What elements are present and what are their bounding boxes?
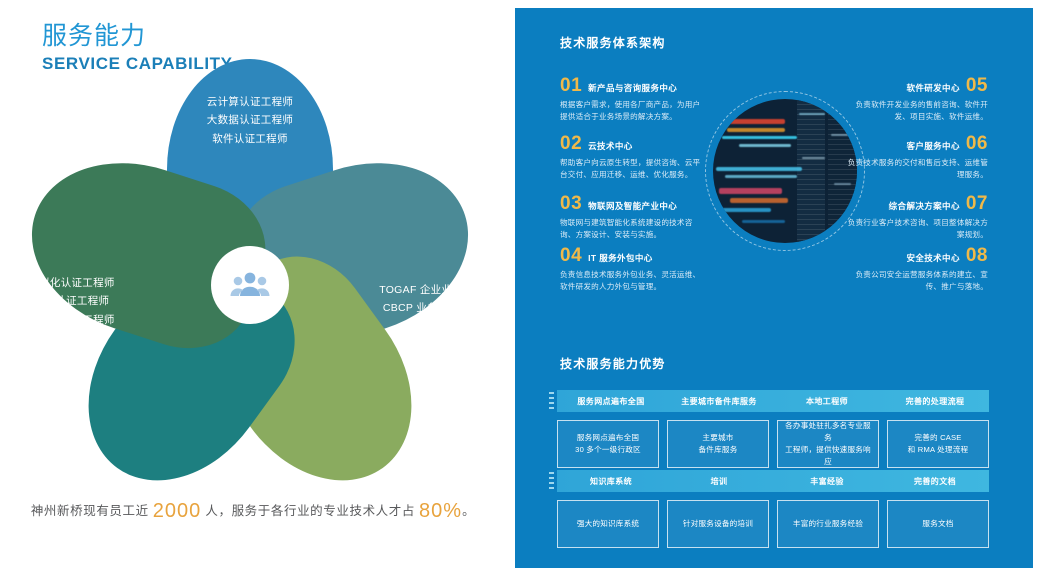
service-item-07-name: 综合解决方案中心	[889, 200, 960, 212]
data-center-photo-image	[713, 99, 857, 243]
service-item-08: 安全技术中心 08 负责公司安全运营服务体系的建立、宣传、推广与落地。	[840, 246, 988, 294]
service-item-07-number: 07	[966, 194, 988, 213]
advantage-2-card-2[interactable]: 丰富的行业服务经验	[777, 500, 879, 548]
advantage-2-header-2: 丰富经验	[773, 470, 881, 492]
service-item-01-number: 01	[560, 76, 582, 95]
footnote-employee-count: 2000	[153, 500, 202, 522]
advantage-1-card-3[interactable]: 完善的 CASE和 RMA 处理流程	[887, 420, 989, 468]
page-title-cn: 服务能力	[42, 22, 233, 51]
service-item-05-name: 软件研发中心	[906, 82, 959, 94]
advantage-table-1: 服务网点遍布全国 主要城市备件库服务 本地工程师 完善的处理流程 服务网点遍布全…	[557, 390, 989, 468]
service-item-06-desc: 负责技术服务的交付和售后支持、运维管理服务。	[840, 157, 988, 182]
service-item-01: 01 新产品与咨询服务中心 根据客户需求，使用各厂商产品，为用户提供适合于业务场…	[560, 76, 708, 124]
advantage-1-header-2: 本地工程师	[773, 390, 881, 412]
advantage-2-card-1[interactable]: 针对服务设备的培训	[667, 500, 769, 548]
advantage-1-header-1: 主要城市备件库服务	[665, 390, 773, 412]
service-item-05-desc: 负责软件开发业务的售前咨询、软件开发、项目实施、软件运维。	[840, 99, 988, 124]
service-item-01-desc: 根据客户需求，使用各厂商产品，为用户提供适合于业务场景的解决方案。	[560, 99, 708, 124]
service-item-02: 02 云技术中心 帮助客户向云原生转型，提供咨询、云平台交付、应用迁移、运维、优…	[560, 134, 708, 182]
advantage-2-header-0: 知识库系统	[557, 470, 665, 492]
service-item-02-name: 云技术中心	[588, 140, 633, 152]
footnote-part3: 。	[462, 504, 475, 518]
advantage-1-card-0[interactable]: 服务网点遍布全国30 多个一级行政区	[557, 420, 659, 468]
advantage-1-header-0: 服务网点遍布全国	[557, 390, 665, 412]
page-title: 服务能力 SERVICE CAPABILITY	[42, 22, 233, 74]
petal-cloud-label: 云计算认证工程师大数据认证工程师软件认证工程师	[207, 59, 293, 148]
advantage-table-1-header: 服务网点遍布全国 主要城市备件库服务 本地工程师 完善的处理流程	[557, 390, 989, 412]
advantage-2-card-0[interactable]: 强大的知识库系统	[557, 500, 659, 548]
service-item-03: 03 物联网及智能产业中心 物联网与建筑智能化系统建设的技术咨询、方案设计、安装…	[560, 194, 708, 242]
advantage-2-card-3[interactable]: 服务文档	[887, 500, 989, 548]
service-item-03-desc: 物联网与建筑智能化系统建设的技术咨询、方案设计、安装与实施。	[560, 217, 708, 242]
service-item-05: 软件研发中心 05 负责软件开发业务的售前咨询、软件开发、项目实施、软件运维。	[840, 76, 988, 124]
service-item-03-number: 03	[560, 194, 582, 213]
advantage-1-card-1[interactable]: 主要城市备件库服务	[667, 420, 769, 468]
service-item-08-number: 08	[966, 246, 988, 265]
footnote-part2: 人，服务于各行业的专业技术人才占	[201, 504, 419, 518]
service-item-08-desc: 负责公司安全运营服务体系的建立、宣传、推广与落地。	[840, 269, 988, 294]
service-item-06-number: 06	[966, 134, 988, 153]
footnote-percentage: 80%	[419, 500, 462, 522]
advantage-section-title: 技术服务能力优势	[560, 355, 666, 372]
advantage-table-2: 知识库系统 培训 丰富经验 完善的文档 强大的知识库系统 针对服务设备的培训 丰…	[557, 470, 989, 548]
advantage-2-header-1: 培训	[665, 470, 773, 492]
right-panel: 技术服务体系架构	[515, 8, 1033, 568]
advantage-1-card-2[interactable]: 各办事处驻扎多名专业服务工程师，提供快速服务响应	[777, 420, 879, 468]
capability-flower-diagram: 云计算认证工程师大数据认证工程师软件认证工程师 TOGAF 企业业务架构师CBC…	[40, 95, 460, 475]
service-item-04: 04 IT 服务外包中心 负责信息技术服务外包业务、灵活运维、软件研发的人力外包…	[560, 246, 708, 294]
service-item-04-desc: 负责信息技术服务外包业务、灵活运维、软件研发的人力外包与管理。	[560, 269, 708, 294]
service-item-04-number: 04	[560, 246, 582, 265]
petal-architecture-label: TOGAF 企业业务架构师CBCP 业务连续性专家	[379, 247, 495, 318]
slide-root: 服务能力 SERVICE CAPABILITY 云计算认证工程师大数据认证工程师…	[0, 0, 1041, 576]
service-item-07-desc: 负责行业客户技术咨询、项目整体解决方案规划。	[840, 217, 988, 242]
left-pane: 服务能力 SERVICE CAPABILITY 云计算认证工程师大数据认证工程师…	[0, 0, 506, 576]
service-item-02-number: 02	[560, 134, 582, 153]
service-item-08-name: 安全技术中心	[906, 252, 959, 264]
dot-decoration-icon	[549, 472, 554, 490]
petal-infrastructure-label: 虚拟化认证工程师存储认证工程师数据库认证工程师	[28, 240, 114, 329]
service-item-01-name: 新产品与咨询服务中心	[588, 82, 677, 94]
service-item-05-number: 05	[966, 76, 988, 95]
advantage-table-2-header: 知识库系统 培训 丰富经验 完善的文档	[557, 470, 989, 492]
page-title-en: SERVICE CAPABILITY	[42, 54, 233, 74]
advantage-2-header-3: 完善的文档	[881, 470, 989, 492]
service-item-07: 综合解决方案中心 07 负责行业客户技术咨询、项目整体解决方案规划。	[840, 194, 988, 242]
architecture-section-title: 技术服务体系架构	[560, 34, 666, 51]
service-item-06: 客户服务中心 06 负责技术服务的交付和售后支持、运维管理服务。	[840, 134, 988, 182]
footnote-part1: 神州新桥现有员工近	[31, 504, 153, 518]
advantage-table-1-row: 服务网点遍布全国30 多个一级行政区 主要城市备件库服务 各办事处驻扎多名专业服…	[557, 420, 989, 468]
service-item-06-name: 客户服务中心	[906, 140, 959, 152]
service-item-03-name: 物联网及智能产业中心	[588, 200, 677, 212]
people-group-icon	[211, 246, 289, 324]
advantage-table-2-row: 强大的知识库系统 针对服务设备的培训 丰富的行业服务经验 服务文档	[557, 500, 989, 548]
employee-statistic-note: 神州新桥现有员工近 2000 人，服务于各行业的专业技术人才占 80%。	[0, 500, 506, 523]
service-item-04-name: IT 服务外包中心	[588, 252, 653, 264]
service-item-02-desc: 帮助客户向云原生转型，提供咨询、云平台交付、应用迁移、运维、优化服务。	[560, 157, 708, 182]
advantage-1-header-3: 完善的处理流程	[881, 390, 989, 412]
dot-decoration-icon	[549, 392, 554, 410]
